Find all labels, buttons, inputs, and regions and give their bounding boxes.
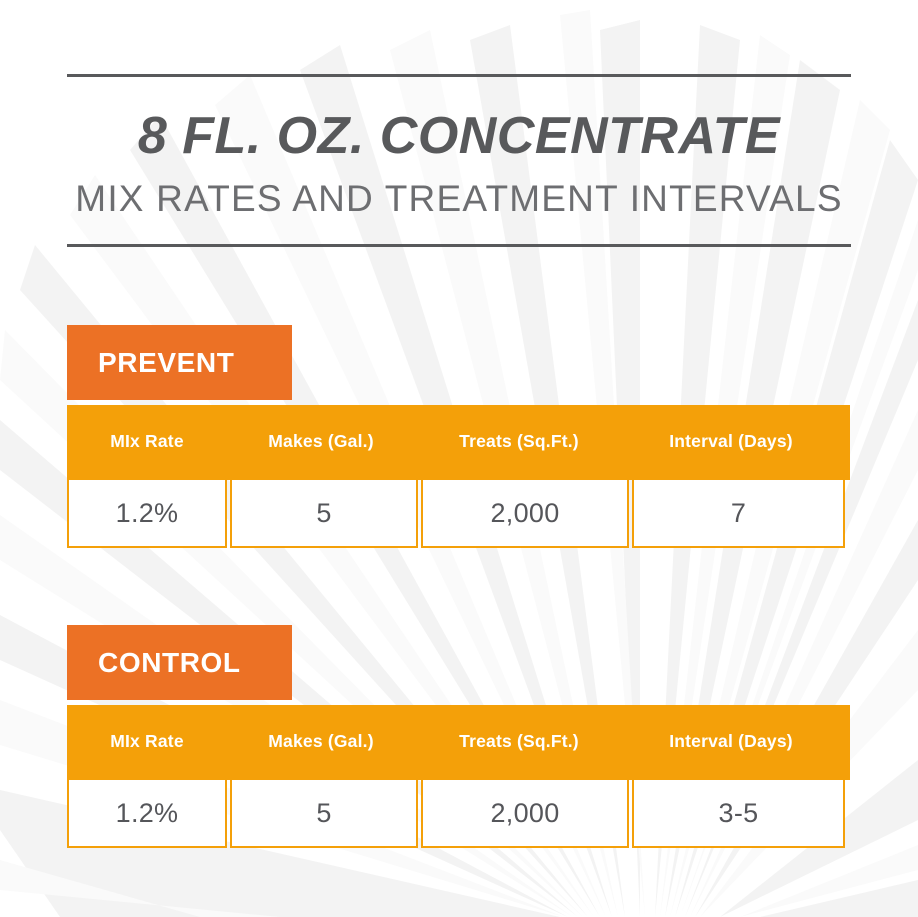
infographic-page: 8 FL. OZ. CONCENTRATE MIX RATES AND TREA… (0, 0, 918, 917)
cell-interval: 3-5 (632, 780, 845, 848)
title-block: 8 FL. OZ. CONCENTRATE MIX RATES AND TREA… (67, 74, 851, 247)
column-header-mix-rate: MIx Rate (67, 705, 227, 777)
table-row: 1.2% 5 2,000 7 (67, 477, 850, 548)
prevent-banner-label: PREVENT (98, 349, 234, 377)
column-header-treats: Treats (Sq.Ft.) (415, 405, 623, 477)
control-table: CONTROL MIx Rate Makes (Gal.) Treats (Sq… (67, 625, 850, 848)
cell-interval: 7 (632, 480, 845, 548)
title-top-rule (67, 74, 851, 77)
cell-makes: 5 (230, 780, 418, 848)
control-header-row: MIx Rate Makes (Gal.) Treats (Sq.Ft.) In… (67, 705, 850, 777)
prevent-banner: PREVENT (67, 325, 292, 400)
page-subtitle: MIX RATES AND TREATMENT INTERVALS (67, 180, 851, 217)
column-header-interval: Interval (Days) (623, 405, 839, 477)
title-bottom-rule (67, 244, 851, 247)
prevent-header-row: MIx Rate Makes (Gal.) Treats (Sq.Ft.) In… (67, 405, 850, 477)
table-row: 1.2% 5 2,000 3-5 (67, 777, 850, 848)
page-title: 8 FL. OZ. CONCENTRATE (67, 110, 851, 162)
cell-makes: 5 (230, 480, 418, 548)
control-banner-label: CONTROL (98, 649, 241, 677)
column-header-treats: Treats (Sq.Ft.) (415, 705, 623, 777)
prevent-table: PREVENT MIx Rate Makes (Gal.) Treats (Sq… (67, 325, 850, 548)
column-header-interval: Interval (Days) (623, 705, 839, 777)
column-header-makes: Makes (Gal.) (227, 705, 415, 777)
cell-mix-rate: 1.2% (67, 480, 227, 548)
control-banner: CONTROL (67, 625, 292, 700)
cell-treats: 2,000 (421, 780, 629, 848)
cell-treats: 2,000 (421, 480, 629, 548)
column-header-makes: Makes (Gal.) (227, 405, 415, 477)
column-header-mix-rate: MIx Rate (67, 405, 227, 477)
cell-mix-rate: 1.2% (67, 780, 227, 848)
